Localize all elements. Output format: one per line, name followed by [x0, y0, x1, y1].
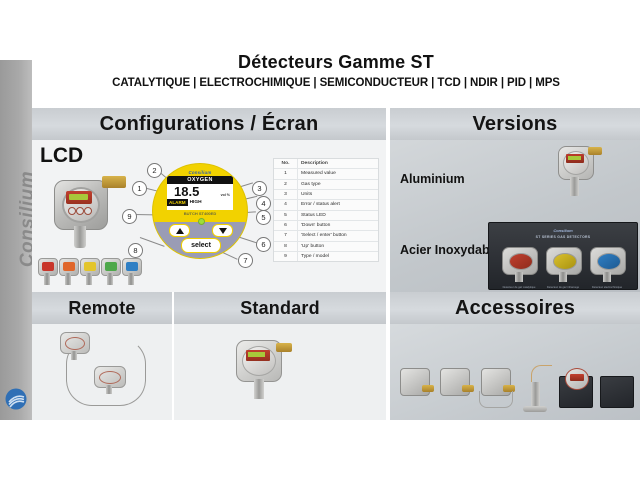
table-row: 8'Up' button: [274, 242, 378, 252]
cell-no: 2: [274, 180, 298, 189]
section-title-remote: Remote: [68, 298, 135, 319]
cell-description: Gas type: [298, 180, 378, 189]
accessory-collecting-cone: [436, 356, 472, 414]
remote-illustration: [32, 324, 172, 420]
brand-rail: Consilium: [0, 60, 32, 420]
callout-3: 3: [252, 181, 267, 196]
table-row: 6'Down' button: [274, 221, 378, 231]
board-unit-caption: Detecteur electrochimique: [590, 286, 624, 289]
cell-no: 7: [274, 231, 298, 240]
section-header-versions: Versions: [390, 108, 640, 140]
callout-9: 9: [122, 209, 137, 224]
cell-no: 6: [274, 221, 298, 230]
board-caption: ST SERIES GAS DETECTORS: [489, 235, 637, 239]
title-block: Détecteurs Gamme ST CATALYTIQUE | ELECTR…: [32, 52, 640, 89]
lcd-dial: Consilium OXYGEN 18.5 vol % ALARM HIGH B…: [152, 163, 248, 259]
cell-no: 9: [274, 252, 298, 261]
status-led-icon: [198, 218, 205, 225]
cell-description: Error / status alert: [298, 200, 378, 209]
callout-4: 4: [256, 196, 271, 211]
section-title-configurations: Configurations / Écran: [100, 113, 319, 136]
section-header-configurations: Configurations / Écran: [32, 108, 386, 140]
detector-variant-row: [38, 258, 144, 288]
down-arrow-icon: [219, 228, 227, 234]
board-unit: Detecteur electrochimique: [590, 247, 624, 285]
cell-no: 5: [274, 211, 298, 220]
column-header-description: Description: [298, 159, 378, 168]
callout-5: 5: [256, 210, 271, 225]
table-row: 1Measured value: [274, 169, 378, 179]
remote-detector-head: [60, 332, 88, 358]
lcd-units: vol %: [221, 193, 230, 197]
standard-detector-photo: [232, 340, 294, 400]
accessory-duct-mount: [477, 356, 513, 414]
detector-variant: [80, 258, 98, 286]
legend-table: No. Description 1Measured value 2Gas typ…: [273, 158, 379, 262]
section-header-accessoires: Accessoires: [390, 292, 640, 324]
column-header-no: No.: [274, 159, 298, 168]
lcd-gas-type: OXYGEN: [167, 176, 233, 184]
cell-no: 4: [274, 200, 298, 209]
section-title-versions: Versions: [473, 113, 558, 136]
lcd-alarm-tag: ALARM: [167, 199, 188, 206]
accessory-mounting-bracket: [557, 356, 593, 414]
callout-8: 8: [128, 243, 143, 258]
cell-description: 'Down' button: [298, 221, 378, 230]
callout-7: 7: [238, 253, 253, 268]
remote-detector-transmitter: [94, 366, 124, 394]
board-unit-caption: Detecteur de gaz infrarouge: [546, 286, 580, 289]
table-row: 7'Select / enter' button: [274, 231, 378, 241]
board-brand-label: Consilium: [489, 228, 637, 233]
cell-no: 3: [274, 190, 298, 199]
detector-variant: [101, 258, 119, 286]
callout-6: 6: [256, 237, 271, 252]
version-label-aluminium: Aluminium: [400, 172, 465, 186]
consilium-wave-logo-icon: [5, 388, 27, 410]
detector-variant: [122, 258, 140, 286]
detector-variant: [59, 258, 77, 286]
cell-description: Status LED: [298, 211, 378, 220]
accessory-remote-sampling-probe: [517, 356, 553, 414]
accessory-sun-shield: [598, 356, 634, 414]
dial-brand-label: Consilium: [153, 170, 247, 175]
up-button[interactable]: [169, 224, 190, 237]
cell-description: 'Select / enter' button: [298, 231, 378, 240]
detector-variant: [38, 258, 56, 286]
down-button[interactable]: [212, 224, 233, 237]
cell-description: 'Up' button: [298, 242, 378, 251]
cell-description: Units: [298, 190, 378, 199]
table-row: 5Status LED: [274, 211, 378, 221]
table-row: 2Gas type: [274, 180, 378, 190]
section-header-remote: Remote: [32, 292, 172, 324]
cell-no: 1: [274, 169, 298, 178]
board-unit: Detecteur de gaz infrarouge: [546, 247, 580, 285]
table-row: 3Units: [274, 190, 378, 200]
table-row: 9Type / model: [274, 252, 378, 261]
lcd-alarm-level: HIGH: [190, 200, 202, 205]
callout-1: 1: [132, 181, 147, 196]
section-header-standard: Standard: [174, 292, 386, 324]
accessories-row: [394, 330, 636, 414]
callout-2: 2: [147, 163, 162, 178]
cell-description: Measured value: [298, 169, 378, 178]
technology-list: CATALYTIQUE | ELECTROCHIMIQUE | SEMICOND…: [32, 77, 640, 89]
slide-root: Consilium Détecteurs Gamme ST CATALYTIQU…: [0, 0, 640, 480]
detector-photo-lcd: [40, 170, 126, 254]
up-arrow-icon: [176, 228, 184, 234]
lcd-model-label: BUTCH ST400ED: [153, 211, 247, 216]
cell-no: 8: [274, 242, 298, 251]
lcd-label: LCD: [40, 144, 83, 168]
section-title-standard: Standard: [240, 298, 320, 319]
lcd-screen: OXYGEN 18.5 vol % ALARM HIGH: [167, 176, 233, 210]
page-title: Détecteurs Gamme ST: [32, 52, 640, 73]
section-title-accessoires: Accessoires: [455, 297, 575, 320]
board-unit: Detecteur de gaz catalytique: [502, 247, 536, 285]
board-unit-caption: Detecteur de gaz catalytique: [502, 286, 536, 289]
detector-photo-aluminium: [552, 146, 598, 204]
select-button[interactable]: select: [181, 238, 221, 253]
detector-photo-stainless-board: Consilium ST SERIES GAS DETECTORS Detect…: [488, 222, 638, 290]
version-label-acier-inoxydable: Acier Inoxydable: [400, 243, 500, 257]
cell-description: Type / model: [298, 252, 378, 261]
lcd-measured-value: 18.5: [174, 185, 199, 198]
table-row: 4Error / status alert: [274, 200, 378, 210]
accessory-weather-cap: [396, 356, 432, 414]
table-header-row: No. Description: [274, 159, 378, 169]
